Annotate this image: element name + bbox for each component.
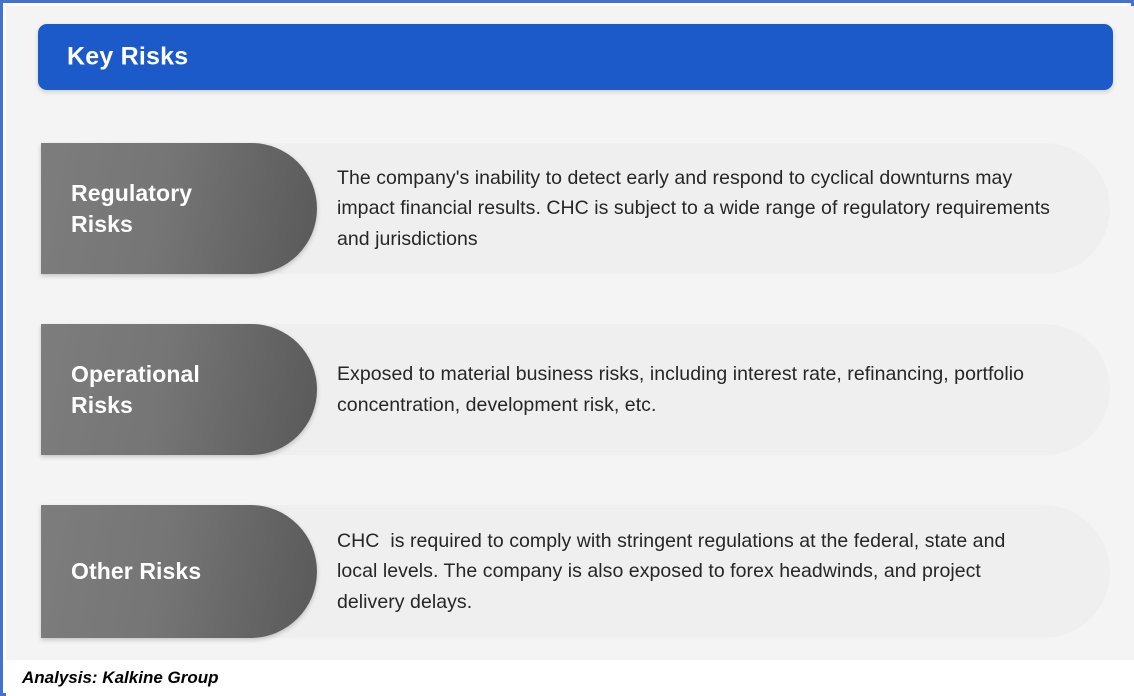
risk-category-pill-other: Other Risks — [41, 505, 317, 638]
footer-bar: Analysis: Kalkine Group — [6, 660, 1134, 696]
risk-description-text: CHC is required to comply with stringent… — [337, 526, 1074, 616]
risk-category-pill-regulatory: Regulatory Risks — [41, 143, 317, 274]
risk-category-label: Regulatory Risks — [41, 178, 317, 239]
risk-description-text: The company's inability to detect early … — [337, 163, 1074, 253]
risk-row: Regulatory Risks The company's inability… — [41, 143, 1110, 274]
risk-category-label: Operational Risks — [41, 359, 317, 420]
risk-category-pill-operational: Operational Risks — [41, 324, 317, 455]
source-attribution: Analysis: Kalkine Group — [6, 668, 219, 688]
outer-frame: Key Risks Regulatory Risks The company's… — [0, 0, 1134, 696]
risk-description-area: Exposed to material business risks, incl… — [337, 324, 1074, 455]
risk-row: Operational Risks Exposed to material bu… — [41, 324, 1110, 455]
content-panel: Key Risks Regulatory Risks The company's… — [6, 6, 1134, 660]
risk-description-area: The company's inability to detect early … — [337, 143, 1074, 274]
key-risks-header-bar: Key Risks — [38, 24, 1113, 90]
risk-row: Other Risks CHC is required to comply wi… — [41, 505, 1110, 638]
risk-description-area: CHC is required to comply with stringent… — [337, 505, 1074, 638]
risk-description-text: Exposed to material business risks, incl… — [337, 359, 1074, 419]
page-title: Key Risks — [67, 43, 188, 72]
risk-category-label: Other Risks — [41, 556, 261, 586]
